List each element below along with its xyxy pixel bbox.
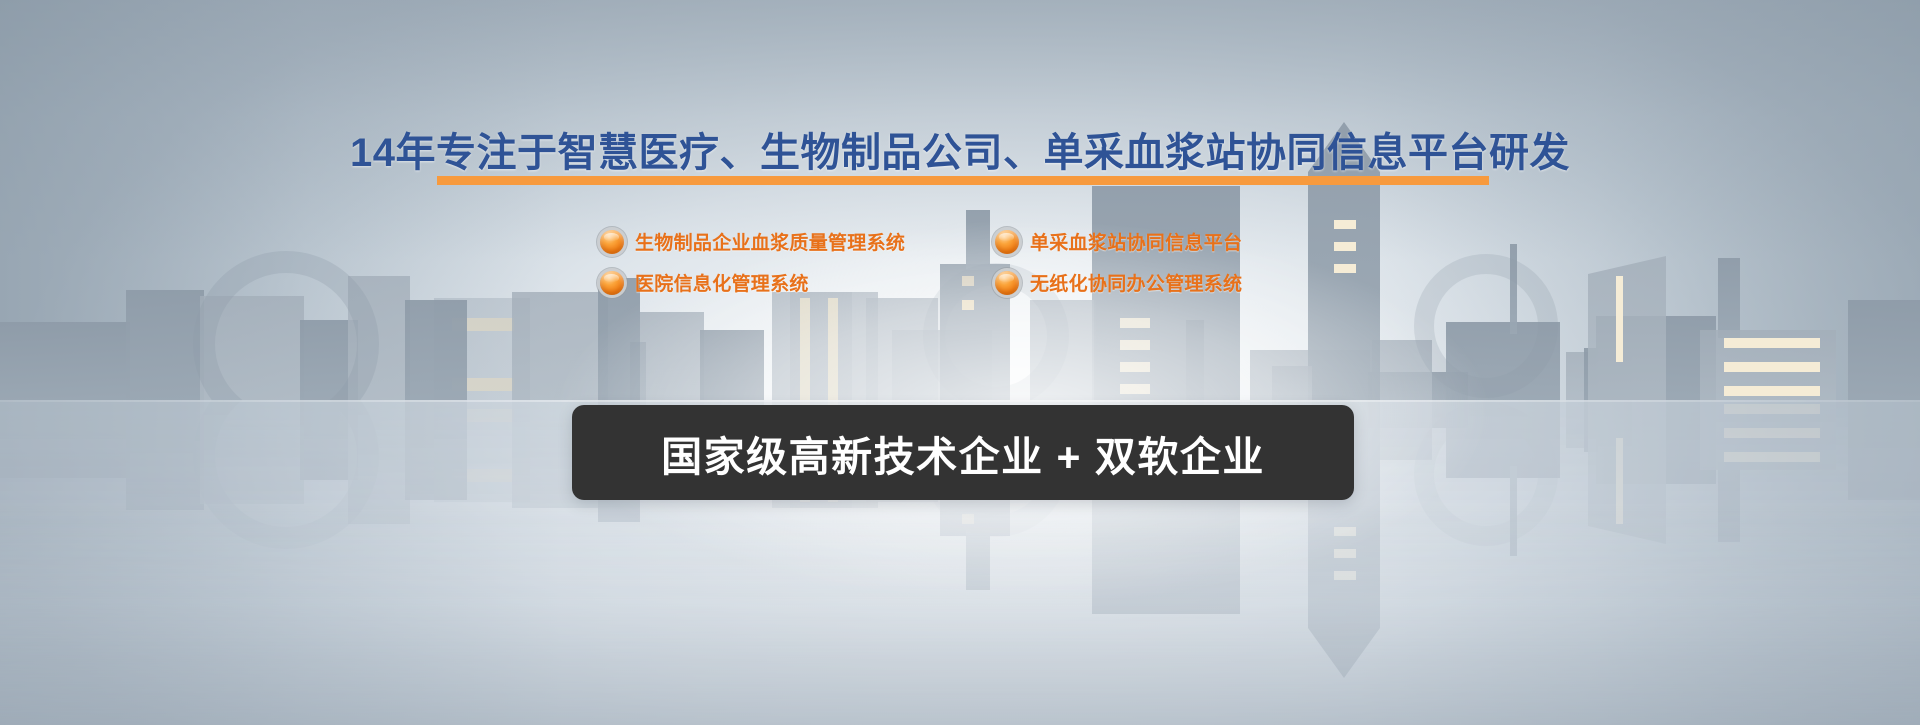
feature-item-plasma-quality[interactable]: 生物制品企业血浆质量管理系统 [600, 228, 995, 255]
feature-item-label: 单采血浆站协同信息平台 [1030, 228, 1242, 255]
feature-item-plasma-station-platform[interactable]: 单采血浆站协同信息平台 [995, 228, 1315, 255]
orange-sphere-bullet-icon [600, 271, 624, 295]
feature-row: 生物制品企业血浆质量管理系统 单采血浆站协同信息平台 [600, 228, 1320, 255]
certification-badge: 国家级高新技术企业 + 双软企业 [572, 405, 1354, 500]
certification-badge-label: 国家级高新技术企业 + 双软企业 [661, 423, 1265, 483]
orange-sphere-bullet-icon [600, 230, 624, 254]
feature-item-label: 生物制品企业血浆质量管理系统 [635, 228, 905, 255]
feature-item-label: 无纸化协同办公管理系统 [1030, 269, 1242, 296]
banner-headline: 14年专注于智慧医疗、生物制品公司、单采血浆站协同信息平台研发 [0, 120, 1920, 178]
feature-item-label: 医院信息化管理系统 [635, 269, 809, 296]
orange-sphere-bullet-icon [995, 271, 1019, 295]
headline-accent-bar [437, 176, 1489, 185]
feature-item-hospital-information[interactable]: 医院信息化管理系统 [600, 269, 995, 296]
feature-row: 医院信息化管理系统 无纸化协同办公管理系统 [600, 269, 1320, 296]
hero-banner: 14年专注于智慧医疗、生物制品公司、单采血浆站协同信息平台研发 生物制品企业血浆… [0, 0, 1920, 725]
orange-sphere-bullet-icon [995, 230, 1019, 254]
feature-item-paperless-office[interactable]: 无纸化协同办公管理系统 [995, 269, 1315, 296]
feature-list: 生物制品企业血浆质量管理系统 单采血浆站协同信息平台 医院信息化管理系统 无纸化… [600, 228, 1320, 310]
